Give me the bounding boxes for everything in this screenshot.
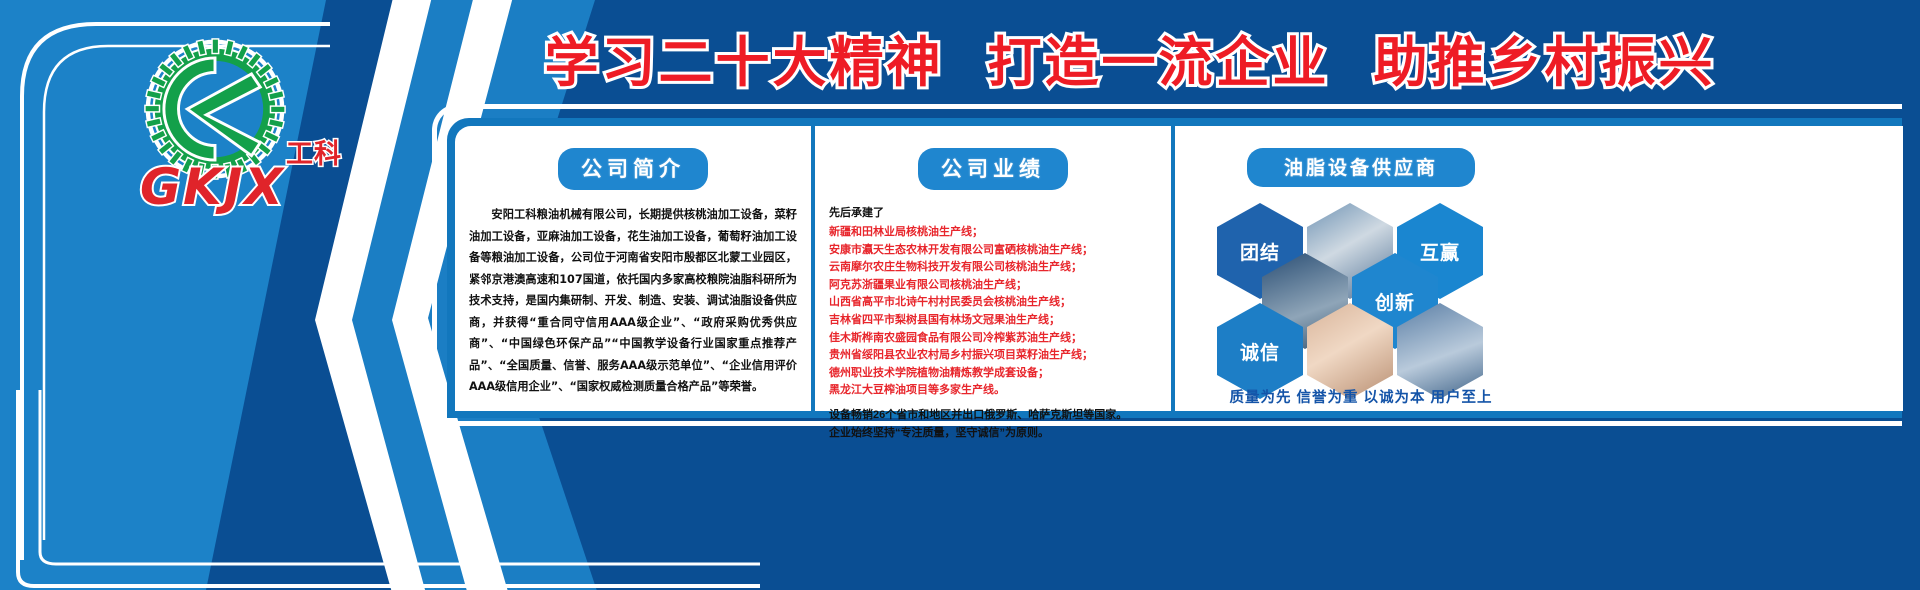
- content-card: 公司简介 安阳工科粮油机械有限公司，长期提供核桃油加工设备，菜籽油加工设备，亚麻…: [455, 126, 1903, 411]
- brand-logo: 工科 GKJX: [110, 22, 340, 212]
- company-profile-body: 安阳工科粮油机械有限公司，长期提供核桃油加工设备，菜籽油加工设备，亚麻油加工设备…: [469, 204, 797, 398]
- achievements-tail-2: 企业始终坚持“专注质量，坚守诚信”为原则。: [829, 424, 1157, 442]
- list-item: 黑龙江大豆榨油项目等多家生产线。: [829, 382, 1157, 400]
- headline-part-3: 助推乡村振兴: [1374, 18, 1716, 97]
- company-profile-text: 安阳工科粮油机械有限公司，长期提供核桃油加工设备，菜籽油加工设备，亚麻油加工设备…: [469, 204, 797, 398]
- list-item: 安康市瀛天生态农林开发有限公司富硒核桃油生产线；: [829, 242, 1157, 260]
- achievements-list: 新疆和田林业局核桃油生产线； 安康市瀛天生态农林开发有限公司富硒核桃油生产线； …: [829, 224, 1157, 400]
- panel-company-profile: 公司简介 安阳工科粮油机械有限公司，长期提供核桃油加工设备，菜籽油加工设备，亚麻…: [455, 126, 811, 411]
- hexagon-cluster: 团结 互赢 创新 诚信: [1189, 201, 1533, 381]
- achievements-tail-1: 设备畅销26个省市和地区并出口俄罗斯、哈萨克斯坦等国家。: [829, 406, 1157, 424]
- list-item: 山西省高平市北诗午村村民委员会核桃油生产线；: [829, 294, 1157, 312]
- list-item: 德州职业技术学院植物油精炼教学成套设备；: [829, 365, 1157, 383]
- panel-title-company-achievements: 公司业绩: [918, 148, 1068, 190]
- list-item: 新疆和田林业局核桃油生产线；: [829, 224, 1157, 242]
- list-item: 贵州省绥阳县农业农村局乡村振兴项目菜籽油生产线；: [829, 347, 1157, 365]
- panel-supplier: 油脂设备供应商 团结 互赢 创新 诚信 质量为先 信誉为重 以诚为本 用户至上: [1171, 126, 1547, 411]
- panel-title-company-profile: 公司简介: [558, 148, 708, 190]
- logo-english-name: GKJX: [140, 158, 285, 216]
- poster-canvas: 工科 GKJX 学习二十大精神 打造一流企业 助推乡村振兴 公司简介 安阳工科粮…: [0, 0, 1920, 590]
- list-item: 云南摩尔农庄生物科技开发有限公司核桃油生产线；: [829, 259, 1157, 277]
- achievements-lead: 先后承建了: [829, 204, 1157, 222]
- poster-headline: 学习二十大精神 打造一流企业 助推乡村振兴: [420, 18, 1840, 96]
- logo-chinese-name: 工科: [286, 132, 342, 171]
- list-item: 佳木斯桦南农盛园食品有限公司冷榨紫苏油生产线；: [829, 330, 1157, 348]
- list-item: 吉林省四平市梨树县国有林场文冠果油生产线；: [829, 312, 1157, 330]
- panel-company-achievements: 公司业绩 先后承建了 新疆和田林业局核桃油生产线； 安康市瀛天生态农林开发有限公…: [811, 126, 1171, 411]
- headline-part-2: 打造一流企业: [988, 18, 1330, 97]
- supplier-slogan: 质量为先 信誉为重 以诚为本 用户至上: [1175, 386, 1547, 407]
- list-item: 阿克苏浙疆果业有限公司核桃油生产线；: [829, 277, 1157, 295]
- headline-part-1: 学习二十大精神: [545, 18, 944, 97]
- panel-title-supplier: 油脂设备供应商: [1247, 148, 1475, 187]
